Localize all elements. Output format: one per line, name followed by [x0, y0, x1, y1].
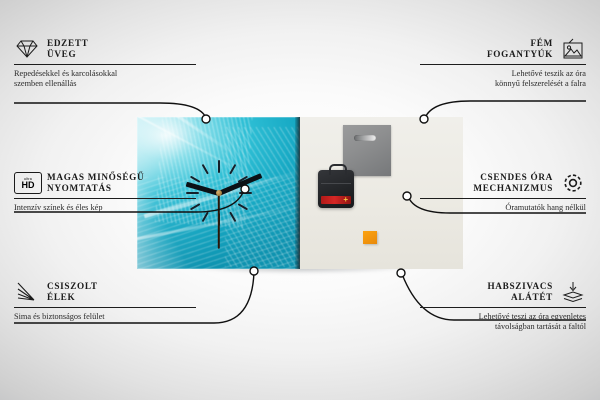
feature-foam-pad: HABSZIVACSALÁTÉT Lehetővé teszi az óra e…	[420, 281, 586, 332]
infographic-canvas: +	[0, 0, 600, 400]
feature-description: Óramutatók hang nélkül	[420, 203, 586, 213]
divider	[14, 64, 196, 65]
feature-description: Lehetővé teszi az óra egyenletestávolság…	[420, 312, 586, 332]
feature-title: CSENDES ÓRAMECHANIZMUS	[473, 172, 553, 194]
hanger-slot	[354, 135, 376, 141]
feature-silent-mechanism: CSENDES ÓRAMECHANIZMUS Óramutatók hang n…	[420, 172, 586, 213]
battery-plus-label: +	[343, 195, 348, 204]
feature-polished-edges: CSISZOLTÉLEK Sima és biztonságos felület	[14, 281, 196, 322]
metal-hanger-plate	[343, 125, 391, 176]
beveled-edge-icon	[14, 281, 40, 303]
feature-header: CSISZOLTÉLEK	[14, 281, 196, 303]
press-pad-icon	[560, 281, 586, 303]
divider	[420, 198, 586, 199]
gear-icon	[560, 172, 586, 194]
feature-title: HABSZIVACSALÁTÉT	[487, 281, 553, 303]
divider	[14, 198, 196, 199]
feature-description: Lehetővé teszik az órakönnyű felszerelés…	[420, 69, 586, 89]
feature-description: Intenzív színek és éles kép	[14, 203, 196, 213]
divider	[14, 307, 196, 308]
product-drop-shadow	[139, 267, 461, 281]
feature-header: ultra HD MAGAS MINŐSÉGŰNYOMTATÁS	[14, 172, 196, 194]
battery: +	[321, 196, 351, 204]
feature-header: EDZETTÜVEG	[14, 38, 196, 60]
feature-header: CSENDES ÓRAMECHANIZMUS	[420, 172, 586, 194]
divider	[420, 307, 586, 308]
mechanism-loop	[329, 164, 347, 175]
foam-pad	[363, 231, 377, 244]
clock-center-cap	[216, 190, 222, 196]
feature-description: Repedésekkel és karcolásokkalszemben ell…	[14, 69, 196, 89]
mechanism-seam	[321, 183, 351, 184]
divider	[420, 64, 586, 65]
feature-title: MAGAS MINŐSÉGŰNYOMTATÁS	[47, 172, 144, 194]
diamond-icon	[14, 38, 40, 60]
ultra-hd-icon: ultra HD	[14, 172, 40, 194]
quartz-mechanism: +	[318, 170, 354, 208]
feature-title: CSISZOLTÉLEK	[47, 281, 98, 303]
feature-title: EDZETTÜVEG	[47, 38, 88, 60]
clock-second-hand	[218, 193, 220, 249]
picture-frame-hook-icon	[560, 38, 586, 60]
feature-header: HABSZIVACSALÁTÉT	[420, 281, 586, 303]
feature-description: Sima és biztonságos felület	[14, 312, 196, 322]
feature-high-quality-print: ultra HD MAGAS MINŐSÉGŰNYOMTATÁS Intenzí…	[14, 172, 196, 213]
feature-header: FÉMFOGANTYÚK	[420, 38, 586, 60]
feature-tempered-glass: EDZETTÜVEG Repedésekkel és karcolásokkal…	[14, 38, 196, 89]
feature-metal-hangers: FÉMFOGANTYÚK Lehetővé teszik az órakönny…	[420, 38, 586, 89]
feature-title: FÉMFOGANTYÚK	[487, 38, 553, 60]
